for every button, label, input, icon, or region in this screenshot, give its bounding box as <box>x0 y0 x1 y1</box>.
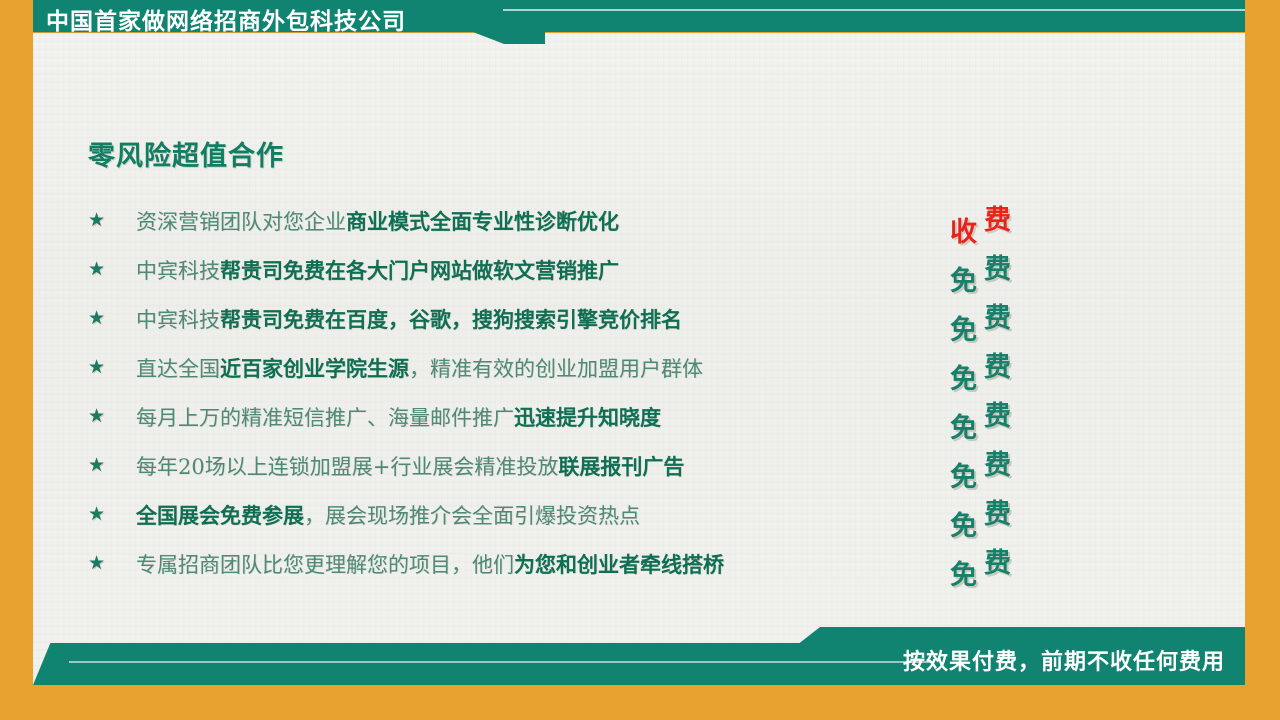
header-green-strip <box>503 0 1245 32</box>
star-icon: ★ <box>88 407 136 426</box>
price-char-first: 免 <box>950 406 977 445</box>
price-char-first: 免 <box>950 504 977 543</box>
price-char-first: 免 <box>950 308 977 347</box>
price-badge: 免费 <box>950 441 1070 490</box>
star-icon: ★ <box>88 505 136 524</box>
price-char-first: 免 <box>950 455 977 494</box>
price-badge: 免费 <box>950 539 1070 588</box>
price-char-first: 免 <box>950 259 977 298</box>
star-icon: ★ <box>88 456 136 475</box>
price-char-second: 费 <box>984 345 1011 384</box>
price-column: 收费免费免费免费免费免费免费免费 <box>950 196 1070 588</box>
star-icon: ★ <box>88 358 136 377</box>
header-hairline <box>503 9 1245 11</box>
price-char-first: 免 <box>950 553 977 592</box>
star-icon: ★ <box>88 309 136 328</box>
price-badge: 免费 <box>950 490 1070 539</box>
price-char-second: 费 <box>984 198 1011 237</box>
price-badge: 收费 <box>950 196 1070 245</box>
slide: 中国首家做网络招商外包科技公司 零风险超值合作 ★资深营销团队对您企业商业模式全… <box>0 0 1280 720</box>
page-title: 零风险超值合作 <box>88 134 284 173</box>
star-icon: ★ <box>88 211 136 230</box>
price-char-first: 免 <box>950 357 977 396</box>
price-badge: 免费 <box>950 294 1070 343</box>
price-char-second: 费 <box>984 296 1011 335</box>
star-icon: ★ <box>88 554 136 573</box>
star-icon: ★ <box>88 260 136 279</box>
price-badge: 免费 <box>950 245 1070 294</box>
price-badge: 免费 <box>950 392 1070 441</box>
price-char-second: 费 <box>984 541 1011 580</box>
price-char-second: 费 <box>984 247 1011 286</box>
price-badge: 免费 <box>950 343 1070 392</box>
price-char-first: 收 <box>950 210 977 249</box>
price-char-second: 费 <box>984 443 1011 482</box>
price-char-second: 费 <box>984 492 1011 531</box>
price-char-second: 费 <box>984 394 1011 433</box>
